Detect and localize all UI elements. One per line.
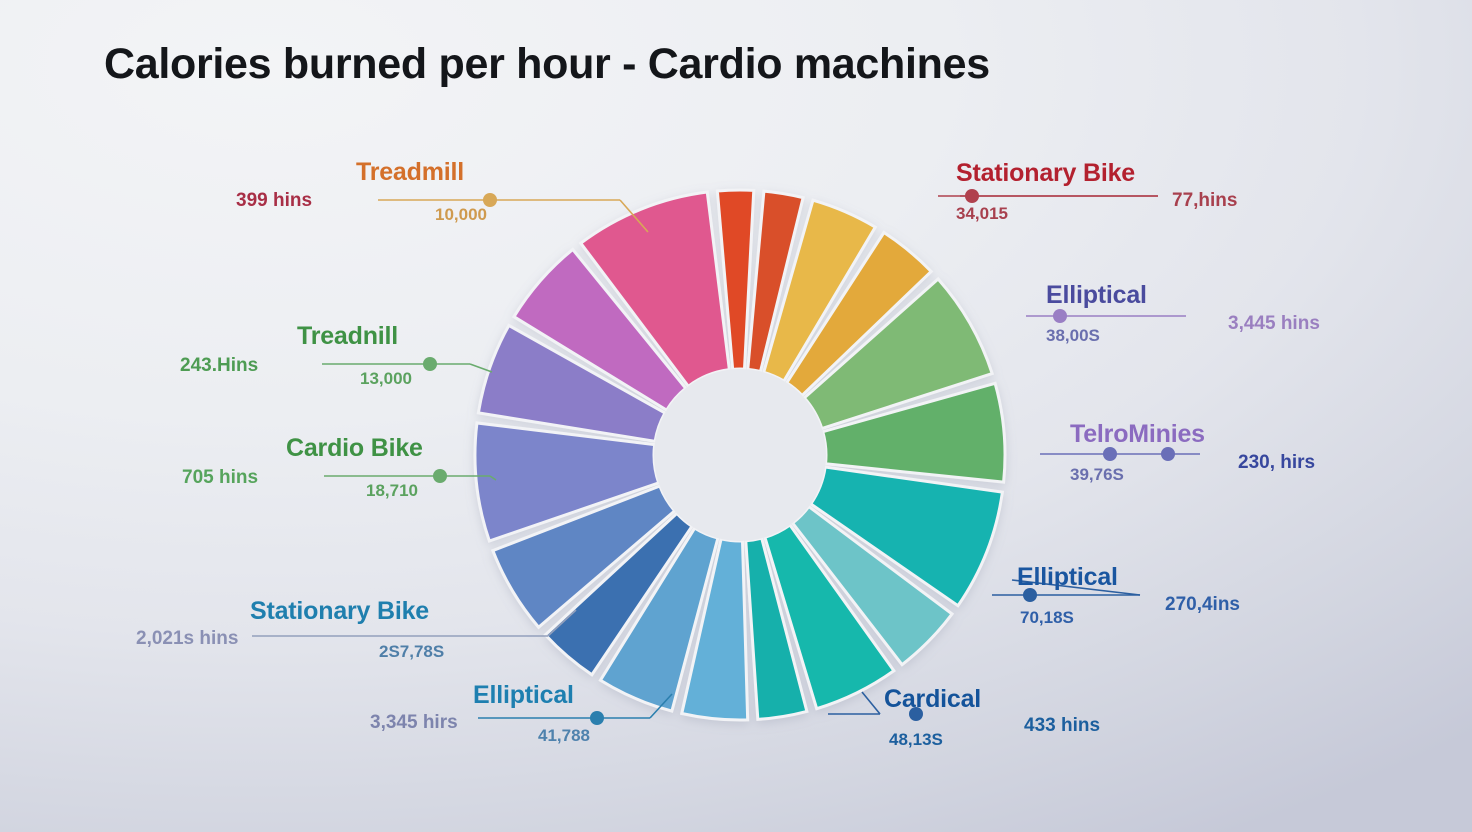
- leader-dot: [1103, 447, 1117, 461]
- callout-label: Elliptical: [1017, 563, 1118, 592]
- callout-label: Elliptical: [1046, 281, 1147, 310]
- leader-dot: [590, 711, 604, 725]
- chart-canvas: Calories burned per hour - Cardio machin…: [0, 0, 1472, 832]
- callout-value: 48,13S: [889, 730, 943, 750]
- callout-label: Cardio Bike: [286, 434, 423, 463]
- callout-label: Stationary Bike: [250, 597, 429, 626]
- callout-side-value: 270,4ins: [1165, 594, 1240, 616]
- callout-label: Elliptical: [473, 681, 574, 710]
- callout-side-value: 3,345 hirs: [370, 712, 458, 734]
- callout-label: Stationary Bike: [956, 159, 1135, 188]
- leader-line: [862, 692, 880, 714]
- callout-side-value: 433 hins: [1024, 715, 1100, 737]
- callout-value: 34,015: [956, 204, 1008, 224]
- callout-label: Treadnill: [297, 322, 398, 351]
- callout-value: 41,788: [538, 726, 590, 746]
- callout-label: Cardical: [884, 685, 981, 714]
- callout-side-value: 399 hins: [236, 190, 312, 212]
- leader-dot: [1053, 309, 1067, 323]
- callout-value: 38,00S: [1046, 326, 1100, 346]
- callout-label: Treadmill: [356, 158, 464, 187]
- callout-value: 10,000: [435, 205, 487, 225]
- leader-dot: [965, 189, 979, 203]
- callout-value: 39,76S: [1070, 465, 1124, 485]
- callout-value: 13,000: [360, 369, 412, 389]
- callout-side-value: 3,445 hins: [1228, 313, 1320, 335]
- donut-chart: [0, 0, 1472, 832]
- donut-center-hole: [654, 369, 826, 541]
- callout-value: 18,710: [366, 481, 418, 501]
- leader-dot: [433, 469, 447, 483]
- callout-value: 70,18S: [1020, 608, 1074, 628]
- callout-side-value: 705 hins: [182, 467, 258, 489]
- callout-value: 2S7,78S: [379, 642, 444, 662]
- callout-side-value: 243.Hins: [180, 355, 258, 377]
- callout-side-value: 230, hirs: [1238, 452, 1315, 474]
- callout-side-value: 77,hins: [1172, 190, 1237, 212]
- leader-dot: [423, 357, 437, 371]
- callout-side-value: 2,021s hins: [136, 628, 238, 650]
- leader-dot: [1161, 447, 1175, 461]
- callout-label: TelroMinies: [1070, 420, 1205, 449]
